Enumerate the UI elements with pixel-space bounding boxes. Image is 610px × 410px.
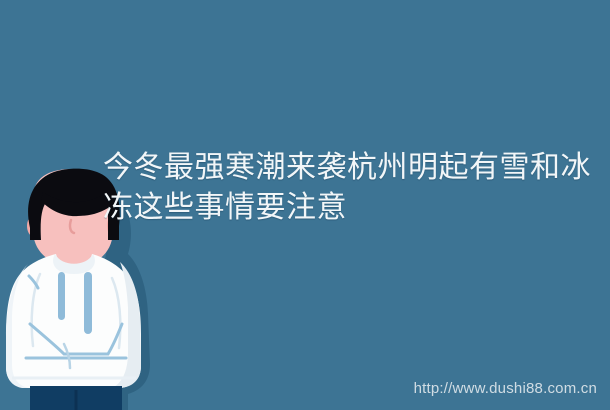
watermark-url: http://www.dushi88.com.cn (414, 380, 597, 398)
headline-text: 今冬最强寒潮来袭杭州明起有雪和冰冻这些事情要注意 (103, 148, 603, 228)
drawstring-left-shape (58, 272, 65, 320)
drawstring-right-shape (84, 272, 92, 334)
article-thumbnail-banner: 今冬最强寒潮来袭杭州明起有雪和冰冻这些事情要注意 http://www.dush… (0, 0, 610, 410)
